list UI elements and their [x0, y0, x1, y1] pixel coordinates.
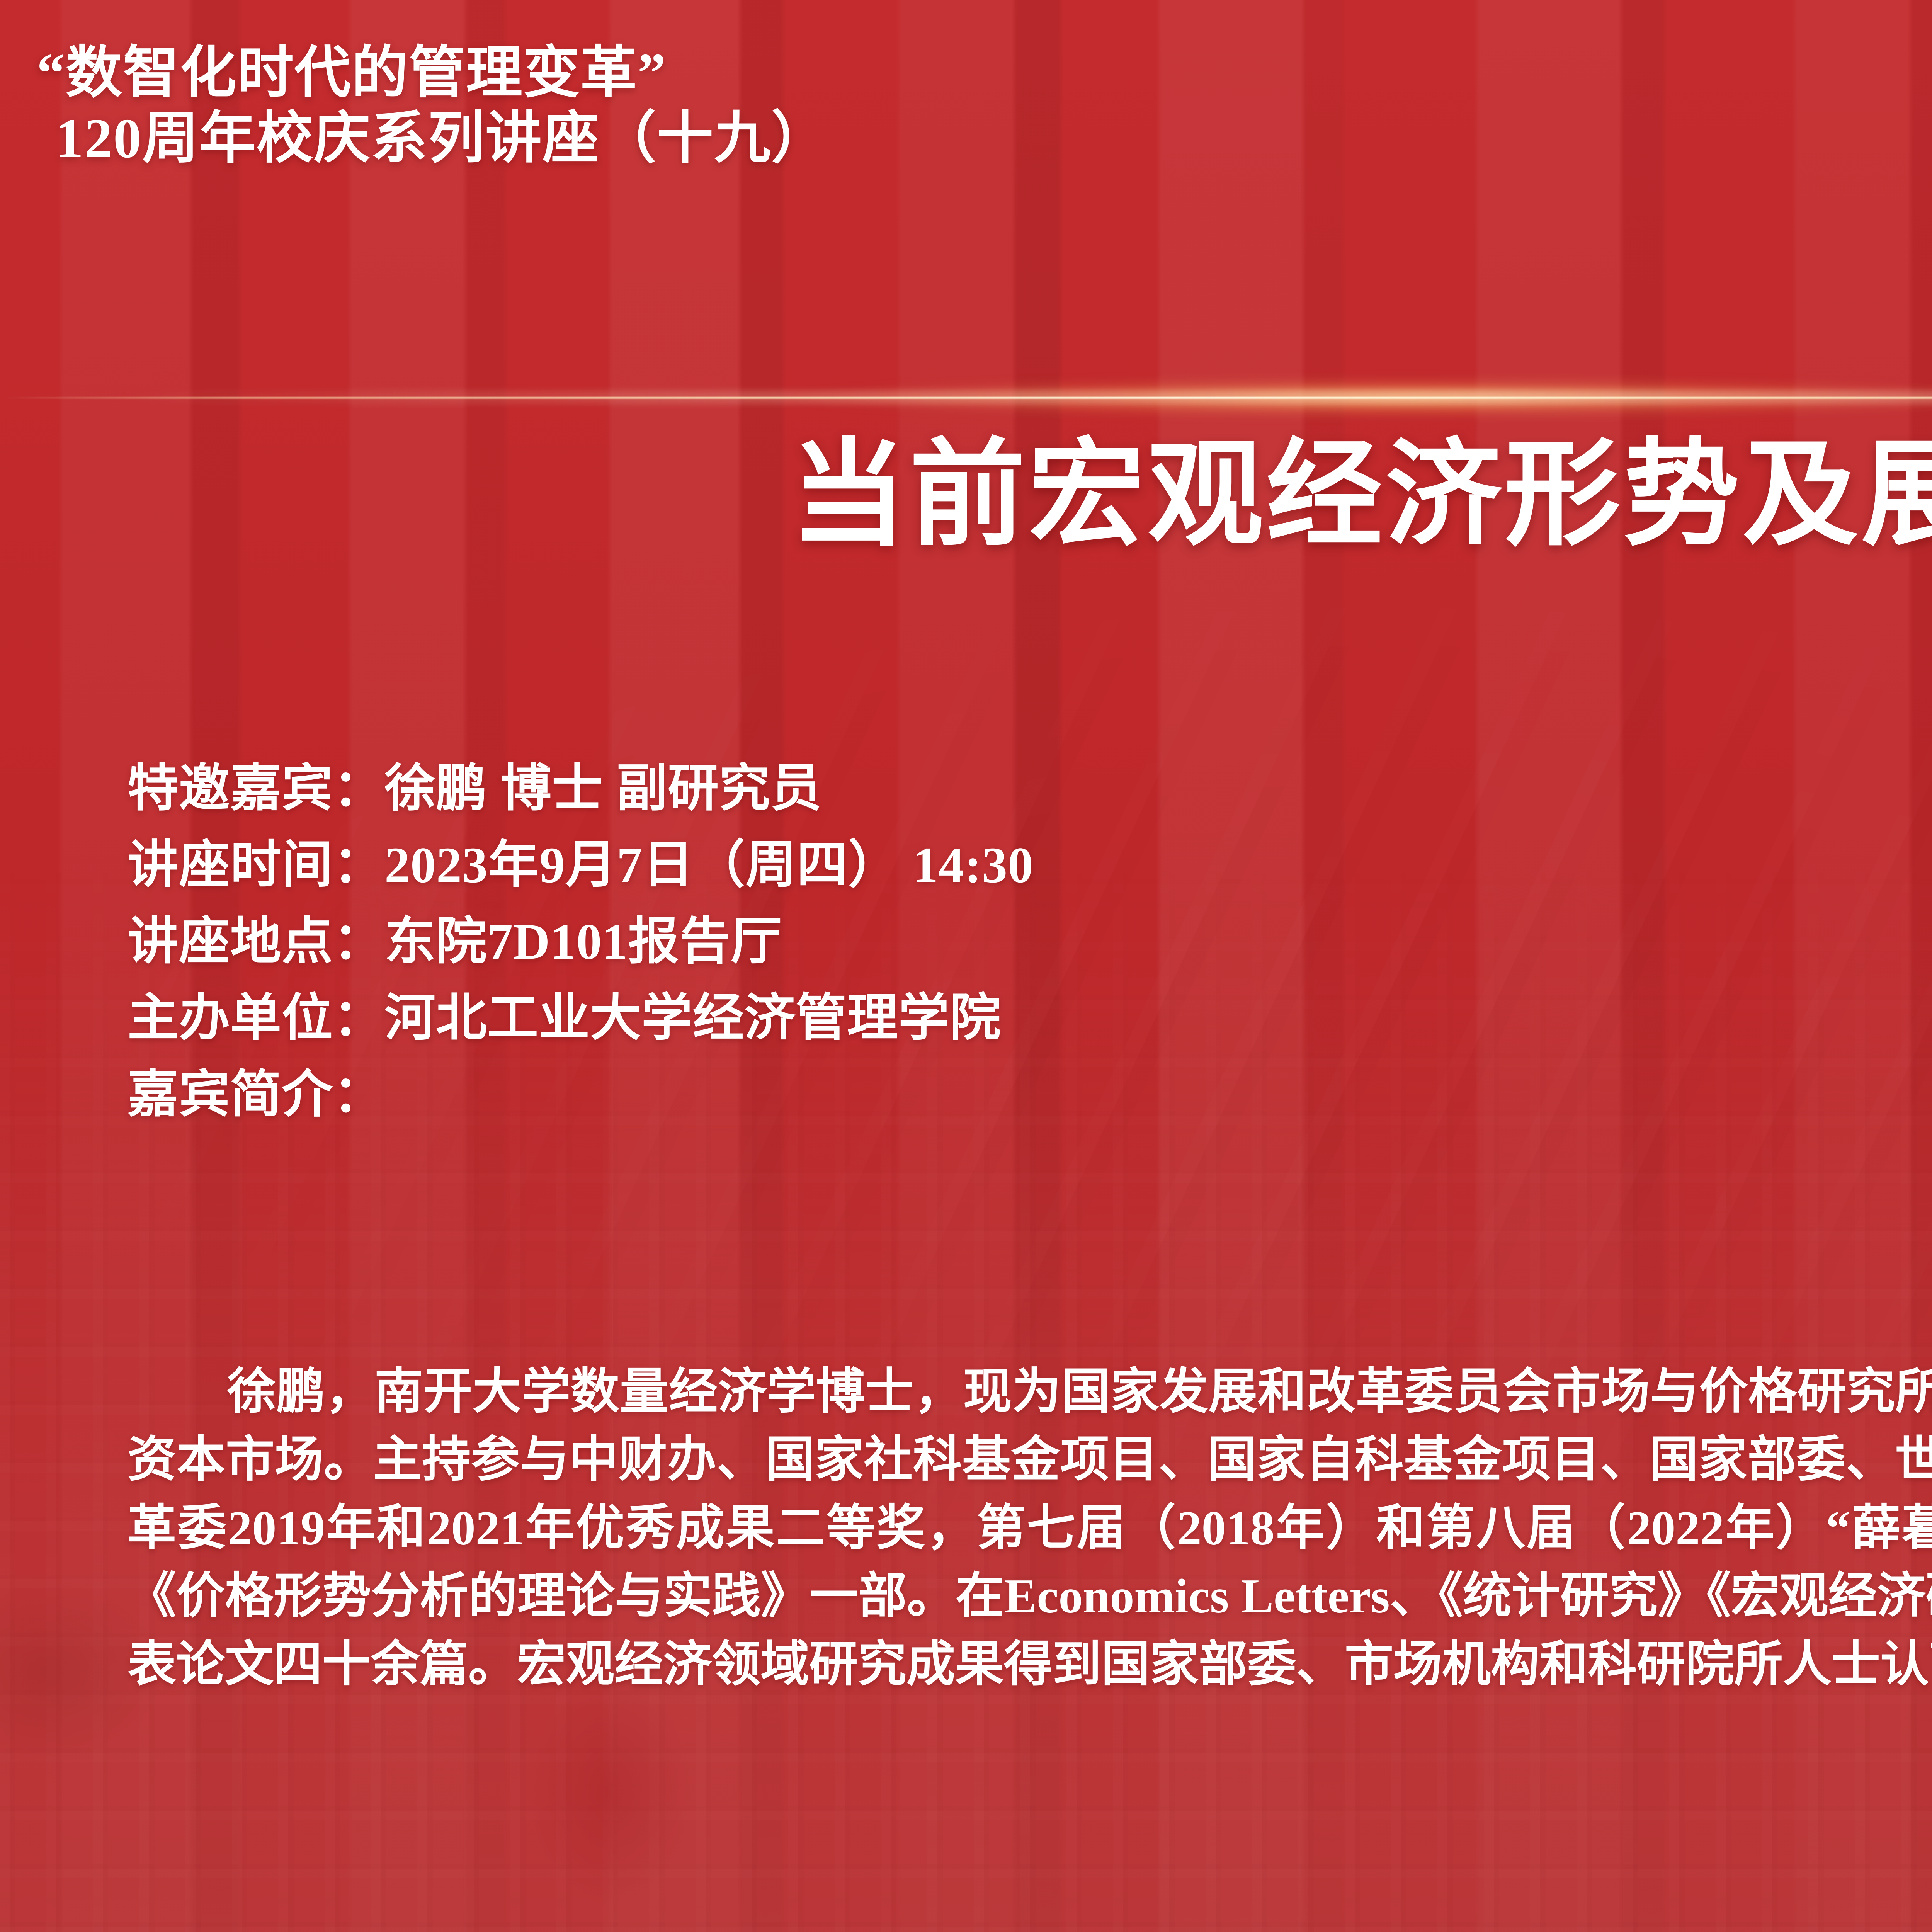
kicker-line-1: “数智化时代的管理变革”	[37, 41, 828, 106]
value-organizer: 河北工业大学经济管理学院	[384, 993, 1001, 1044]
bio-paragraph: 徐鹏，南开大学数量经济学博士，现为国家发展和改革委员会市场与价格研究所副研究员，…	[128, 1358, 1932, 1699]
value-venue: 东院7D101报告厅	[384, 916, 782, 967]
speaker-bio: 徐鹏，南开大学数量经济学博士，现为国家发展和改革委员会市场与价格研究所副研究员，…	[128, 1358, 1932, 1699]
poster-header: “数智化时代的管理变革” 120周年校庆系列讲座（十九）	[0, 0, 1932, 348]
detail-row-venue: 讲座地点： 东院7D101报告厅	[128, 916, 1932, 967]
detail-row-organizer: 主办单位： 河北工业大学经济管理学院	[128, 993, 1932, 1044]
detail-row-time: 讲座时间： 2023年9月7日（周四） 14:30	[128, 840, 1932, 891]
value-guest: 徐鹏 博士 副研究员	[384, 763, 822, 814]
detail-row-bio-heading: 嘉宾简介：	[128, 1069, 1932, 1120]
detail-row-guest: 特邀嘉宾： 徐鹏 博士 副研究员	[128, 763, 1932, 814]
series-kicker: “数智化时代的管理变革” 120周年校庆系列讲座（十九）	[37, 41, 828, 172]
label-organizer: 主办单位：	[128, 993, 384, 1044]
label-venue: 讲座地点：	[128, 916, 384, 967]
lecture-poster: “数智化时代的管理变革” 120周年校庆系列讲座（十九）	[0, 0, 1932, 1932]
label-time: 讲座时间：	[128, 840, 384, 891]
lecture-details: 特邀嘉宾： 徐鹏 博士 副研究员 讲座时间： 2023年9月7日（周四） 14:…	[128, 763, 1932, 1146]
kicker-line-2: 120周年校庆系列讲座（十九）	[55, 106, 828, 171]
label-guest: 特邀嘉宾：	[128, 763, 384, 814]
value-time: 2023年9月7日（周四） 14:30	[384, 840, 1034, 891]
page-title: 当前宏观经济形势及展望	[0, 437, 1932, 553]
label-bio: 嘉宾简介：	[128, 1069, 384, 1120]
